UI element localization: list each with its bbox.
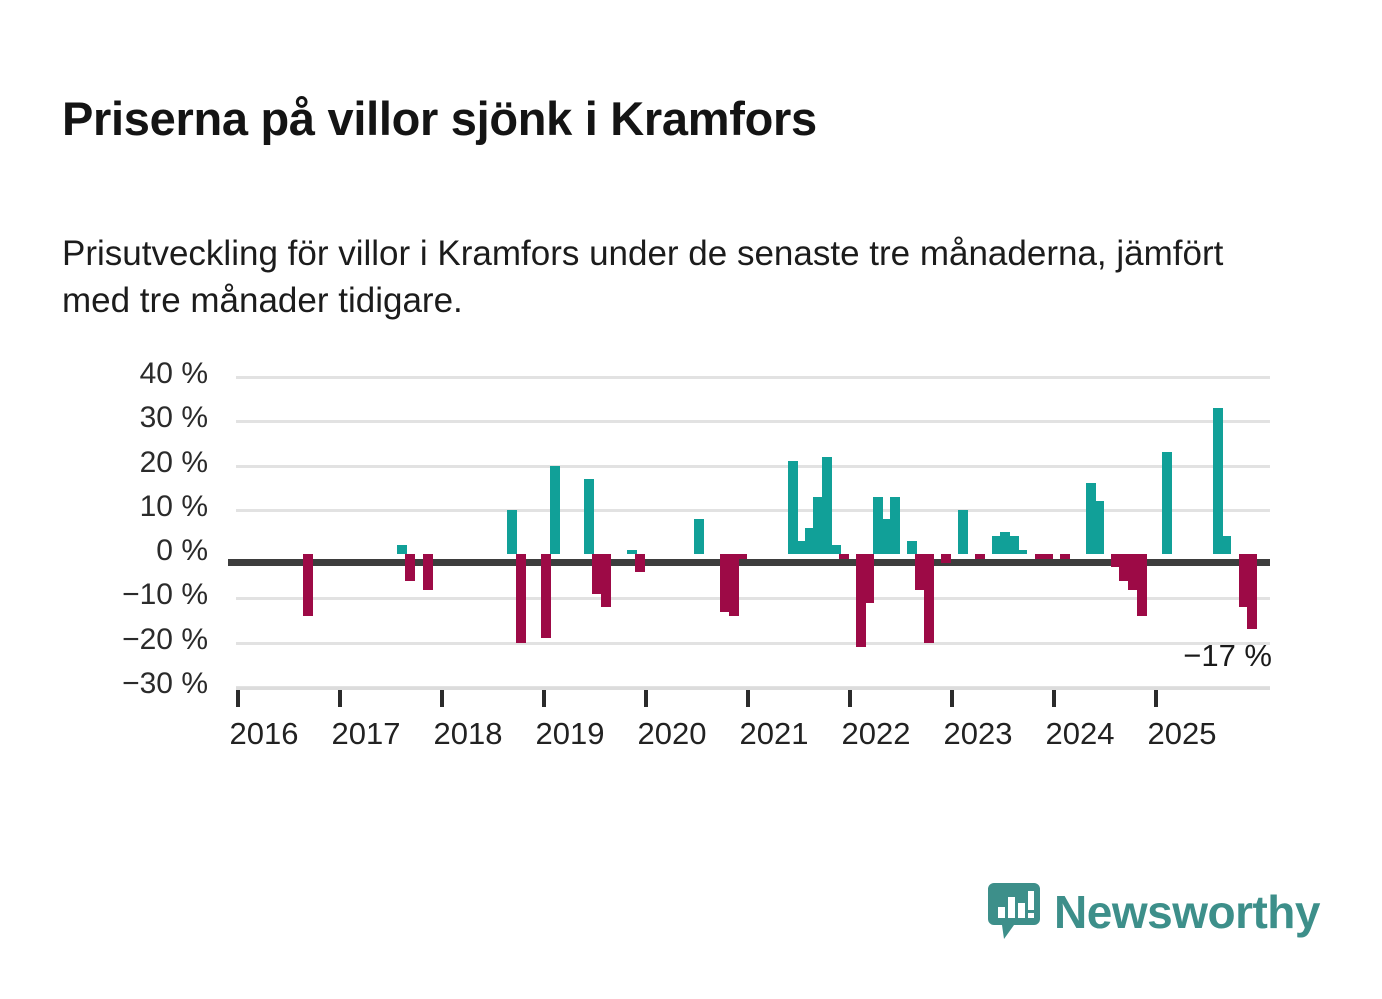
bar — [1137, 554, 1147, 616]
newsworthy-logo[interactable]: Newsworthy — [988, 883, 1320, 941]
bar — [541, 554, 551, 638]
bar — [550, 466, 560, 555]
y-tick-label: 30 % — [48, 401, 208, 435]
x-tick — [542, 690, 546, 707]
y-tick-label: −20 % — [48, 623, 208, 657]
x-tick-label: 2019 — [515, 716, 625, 752]
bar — [405, 554, 415, 581]
x-tick — [1154, 690, 1158, 707]
bar — [907, 541, 917, 554]
y-tick-label: −10 % — [48, 578, 208, 612]
y-axis-labels: 40 %30 %20 %10 %0 %−10 %−20 %−30 % — [48, 377, 208, 687]
bar — [941, 554, 951, 563]
y-tick-label: −30 % — [48, 667, 208, 701]
page-title: Priserna på villor sjönk i Kramfors — [62, 93, 1322, 146]
bar — [1221, 536, 1231, 554]
x-tick — [338, 690, 342, 707]
bar — [864, 554, 874, 603]
bar — [1060, 554, 1070, 558]
gridline — [236, 597, 1270, 600]
x-tick — [848, 690, 852, 707]
bar — [924, 554, 934, 643]
bar — [975, 554, 985, 558]
x-tick-label: 2023 — [923, 716, 1033, 752]
bar — [1017, 550, 1027, 554]
bar-chart-speech-bubble-icon — [988, 883, 1040, 941]
bar — [839, 554, 849, 558]
y-tick-label: 20 % — [48, 446, 208, 480]
bar — [423, 554, 433, 589]
bar — [737, 554, 747, 558]
x-tick — [236, 690, 240, 707]
bar — [1213, 408, 1223, 554]
x-tick-label: 2017 — [311, 716, 421, 752]
gridline — [236, 420, 1270, 423]
x-tick — [950, 690, 954, 707]
bar — [601, 554, 611, 607]
bar — [729, 554, 739, 616]
chart-subtitle: Prisutveckling för villor i Kramfors und… — [62, 231, 1282, 325]
bar — [1094, 501, 1104, 554]
x-tick-label: 2018 — [413, 716, 523, 752]
bar — [635, 554, 645, 572]
bar — [890, 497, 900, 555]
gridline — [236, 376, 1270, 379]
chart-page: Priserna på villor sjönk i Kramfors Pris… — [0, 0, 1382, 999]
bar — [1247, 554, 1257, 629]
x-axis-line — [236, 687, 1270, 690]
bar — [303, 554, 313, 616]
bar — [516, 554, 526, 643]
bar — [694, 519, 704, 554]
bar — [1043, 554, 1053, 558]
bar — [822, 457, 832, 554]
bar — [397, 545, 407, 554]
x-tick-label: 2025 — [1127, 716, 1237, 752]
x-tick-label: 2024 — [1025, 716, 1135, 752]
y-tick-label: 40 % — [48, 357, 208, 391]
x-tick — [440, 690, 444, 707]
x-tick-label: 2022 — [821, 716, 931, 752]
x-tick-label: 2020 — [617, 716, 727, 752]
bar — [958, 510, 968, 554]
x-tick — [1052, 690, 1056, 707]
bar — [831, 545, 841, 554]
last-value-annotation: −17 % — [1183, 638, 1272, 674]
gridline — [236, 465, 1270, 468]
x-tick-label: 2016 — [209, 716, 319, 752]
x-tick — [746, 690, 750, 707]
gridline — [236, 509, 1270, 512]
bar — [507, 510, 517, 554]
x-tick — [644, 690, 648, 707]
x-tick-label: 2021 — [719, 716, 829, 752]
plot-area — [236, 377, 1270, 687]
y-tick-label: 0 % — [48, 534, 208, 568]
logo-wordmark: Newsworthy — [1054, 889, 1320, 935]
bar — [1162, 452, 1172, 554]
gridline — [236, 642, 1270, 645]
bar — [584, 479, 594, 554]
y-tick-label: 10 % — [48, 490, 208, 524]
